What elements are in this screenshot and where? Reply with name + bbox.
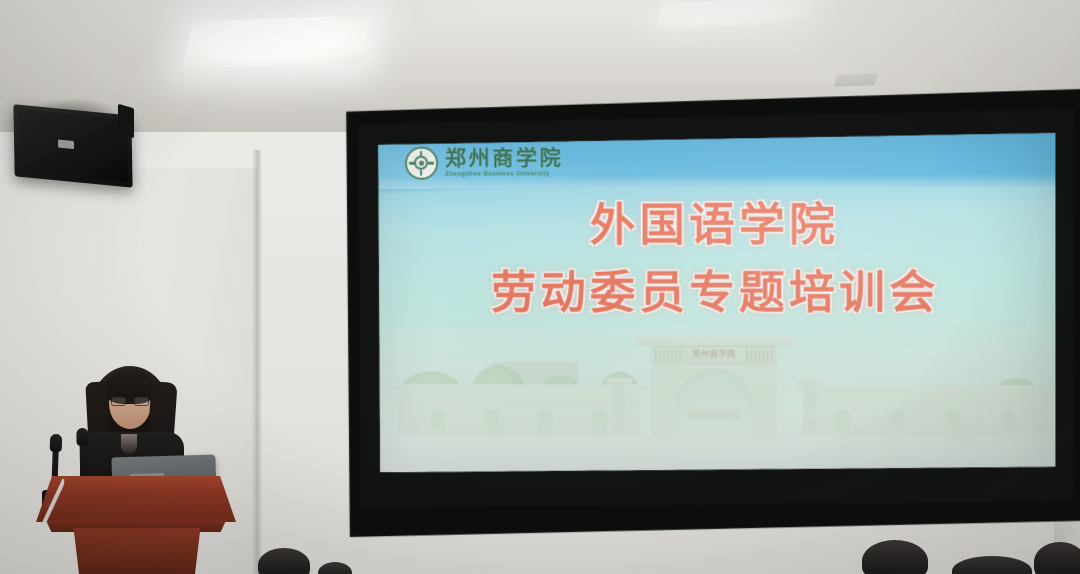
- led-panel-light: [182, 15, 373, 70]
- projection-screen-frame: 郑州商学院 Zhengzhou Business University 外国语学…: [344, 89, 1080, 541]
- slide-title-block: 外国语学院 劳动委员专题培训会: [378, 200, 1055, 317]
- presenter-glasses: [111, 397, 149, 406]
- slide-subtitle: 劳动委员专题培训会: [378, 269, 1055, 318]
- campus-gate-photo: 郑州商学院: [378, 328, 1055, 475]
- wall-speaker: [13, 104, 132, 188]
- podium-top: [36, 476, 236, 522]
- photo-fade-overlay: [378, 328, 1055, 475]
- audience-head: [862, 540, 928, 574]
- presenter-collar: [121, 434, 137, 454]
- university-logo: 郑州商学院 Zhengzhou Business University: [405, 146, 563, 180]
- lecture-hall-photo: 郑州商学院 Zhengzhou Business University 外国语学…: [0, 0, 1080, 574]
- logo-text: 郑州商学院 Zhengzhou Business University: [445, 147, 563, 178]
- speaker-badge: [58, 140, 74, 150]
- presenter-at-podium: [28, 360, 278, 574]
- speaker-mount-bracket: [118, 104, 134, 139]
- audience-head: [1034, 542, 1080, 574]
- logo-name-en: Zhengzhou Business University: [445, 172, 563, 179]
- audience-head: [258, 548, 310, 574]
- logo-name-cn: 郑州商学院: [445, 147, 563, 169]
- presentation-slide: 郑州商学院 Zhengzhou Business University 外国语学…: [378, 133, 1055, 475]
- podium-column: [68, 528, 206, 574]
- university-emblem-icon: [405, 147, 438, 180]
- projection-screen-surface: 郑州商学院 Zhengzhou Business University 外国语学…: [378, 133, 1055, 475]
- ceiling-vent: [834, 73, 878, 86]
- slide-title: 外国语学院: [378, 200, 1055, 250]
- projection-screen-bezel: 郑州商学院 Zhengzhou Business University 外国语学…: [358, 109, 1074, 511]
